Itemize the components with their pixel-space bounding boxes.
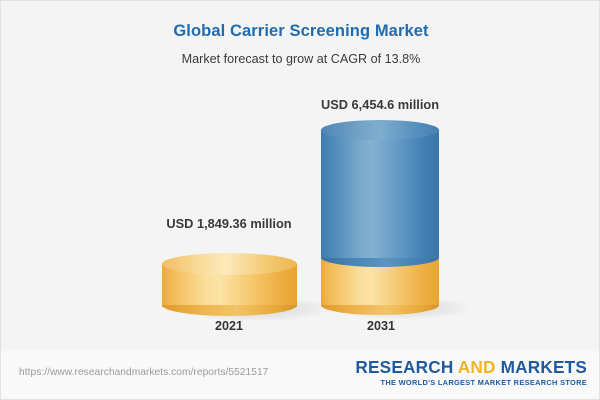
- bar-2031-growth-front: [321, 130, 439, 258]
- logo-word-and: AND: [458, 357, 496, 377]
- bar-2031-top-ellipse: [321, 120, 439, 140]
- bar-2021-top-ellipse: [162, 253, 297, 275]
- bar-2021-category-label: 2021: [164, 319, 294, 333]
- bar-2031-category-label: 2031: [316, 319, 446, 333]
- chart-plot-area: USD 1,849.36 million 2021 USD 6,454.6 mi…: [1, 1, 600, 353]
- chart-card: Global Carrier Screening Market Market f…: [0, 0, 600, 400]
- bar-2021-value-label: USD 1,849.36 million: [149, 216, 309, 231]
- chart-footer: https://www.researchandmarkets.com/repor…: [1, 351, 600, 399]
- logo-wordmark: RESEARCH AND MARKETS: [355, 358, 587, 376]
- source-url-link[interactable]: https://www.researchandmarkets.com/repor…: [19, 367, 268, 378]
- logo-word-markets: MARKETS: [496, 357, 587, 377]
- bar-2021[interactable]: [162, 253, 297, 311]
- research-and-markets-logo[interactable]: RESEARCH AND MARKETS THE WORLD'S LARGEST…: [355, 358, 587, 387]
- logo-tagline: THE WORLD'S LARGEST MARKET RESEARCH STOR…: [355, 378, 587, 387]
- bar-2031[interactable]: [321, 120, 439, 311]
- logo-word-research: RESEARCH: [355, 357, 457, 377]
- bar-2031-value-label: USD 6,454.6 million: [295, 97, 465, 112]
